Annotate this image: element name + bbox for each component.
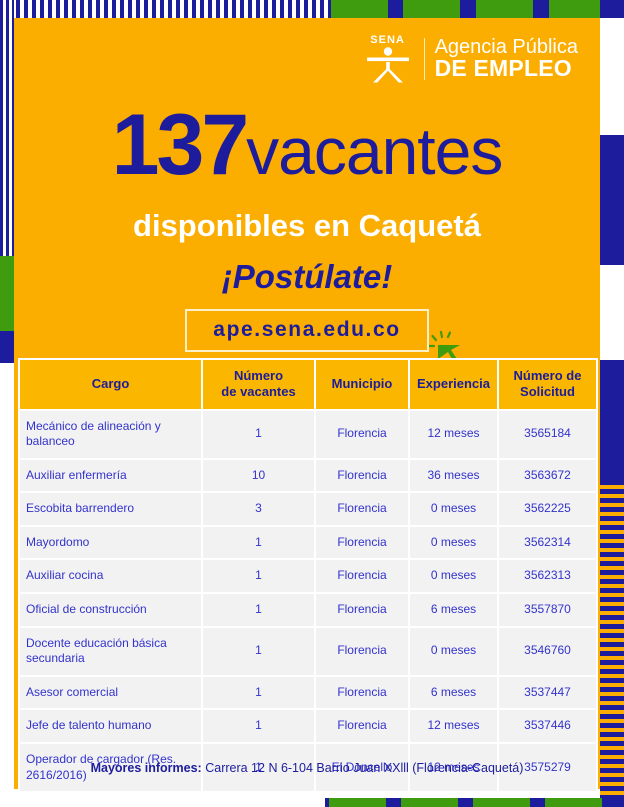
right-white-block-2: [600, 265, 624, 360]
cell-experiencia: 0 meses: [409, 526, 498, 560]
cell-municipio: Florencia: [315, 593, 409, 627]
cell-vacantes: 1: [202, 559, 315, 593]
cell-vacantes: 1: [202, 593, 315, 627]
vacancies-table-wrap: Cargo Númerode vacantes Municipio Experi…: [18, 358, 596, 793]
cell-experiencia: 0 meses: [409, 627, 498, 676]
table-row: Asesor comercial1Florencia6 meses3537447: [19, 676, 597, 710]
col-header-solicitud: Número deSolicitud: [498, 359, 597, 410]
cell-vacantes: 1: [202, 410, 315, 459]
col-header-vacantes-line1: Número: [234, 368, 283, 383]
table-header-row: Cargo Númerode vacantes Municipio Experi…: [19, 359, 597, 410]
cell-solicitud: 3563672: [498, 459, 597, 493]
logo-line-2: DE EMPLEO: [435, 57, 578, 80]
url-button[interactable]: ape.sena.edu.co: [185, 309, 428, 352]
vacancy-word: vacantes: [246, 114, 502, 188]
vacancies-table: Cargo Númerode vacantes Municipio Experi…: [18, 358, 598, 793]
cell-cargo: Mayordomo: [19, 526, 202, 560]
headline: 137vacantes: [14, 96, 600, 195]
cell-municipio: Florencia: [315, 526, 409, 560]
table-row: Escobita barrendero3Florencia0 meses3562…: [19, 492, 597, 526]
cell-municipio: Florencia: [315, 709, 409, 743]
col-header-cargo: Cargo: [19, 359, 202, 410]
logo-text: Agencia Pública DE EMPLEO: [435, 37, 578, 81]
footer-info: Mayores informes: Carrera 12 N 6-104 Bar…: [14, 761, 600, 775]
col-header-experiencia: Experiencia: [409, 359, 498, 410]
table-row: Mayordomo1Florencia0 meses3562314: [19, 526, 597, 560]
col-header-solicitud-line2: Solicitud: [520, 384, 575, 399]
col-header-vacantes: Númerode vacantes: [202, 359, 315, 410]
vacancy-count: 137: [112, 97, 247, 193]
cell-cargo: Mecánico de alineación y balanceo: [19, 410, 202, 459]
top-green-block-pattern: [331, 0, 624, 18]
url-label: ape.sena.edu.co: [213, 318, 400, 341]
cell-vacantes: 1: [202, 627, 315, 676]
right-blue-block-1: [600, 0, 624, 18]
cell-vacantes: 3: [202, 492, 315, 526]
col-header-vacantes-line2: de vacantes: [221, 384, 295, 399]
sena-logo: SENA Agencia Pública DE EMPLEO: [362, 35, 578, 83]
cell-experiencia: 0 meses: [409, 492, 498, 526]
cell-municipio: Florencia: [315, 410, 409, 459]
cell-experiencia: 36 meses: [409, 459, 498, 493]
col-header-solicitud-line1: Número de: [514, 368, 582, 383]
cell-solicitud: 3557870: [498, 593, 597, 627]
cell-cargo: Asesor comercial: [19, 676, 202, 710]
url-button-wrap: ape.sena.edu.co: [14, 309, 600, 352]
poster-panel: SENA Agencia Pública DE EMPLEO 137vacant…: [14, 18, 600, 789]
col-header-experiencia-label: Experiencia: [417, 376, 490, 391]
bottom-green-block-pattern: [325, 798, 624, 807]
cell-experiencia: 0 meses: [409, 559, 498, 593]
right-horizontal-stripe-pattern: [600, 480, 624, 807]
cell-cargo: Auxiliar cocina: [19, 559, 202, 593]
col-header-municipio-label: Municipio: [332, 376, 393, 391]
cell-vacantes: 1: [202, 676, 315, 710]
sena-mark: SENA: [362, 35, 414, 83]
logo-divider: [424, 38, 425, 80]
cell-solicitud: 3562314: [498, 526, 597, 560]
cell-experiencia: 6 meses: [409, 676, 498, 710]
cell-experiencia: 6 meses: [409, 593, 498, 627]
table-row: Jefe de talento humano1Florencia12 meses…: [19, 709, 597, 743]
sena-wordmark: SENA: [370, 35, 405, 46]
call-to-action: ¡Postúlate!: [14, 258, 600, 296]
cell-vacantes: 1: [202, 526, 315, 560]
cell-municipio: Florencia: [315, 492, 409, 526]
page-subtitle: disponibles en Caquetá: [14, 208, 600, 244]
cell-cargo: Escobita barrendero: [19, 492, 202, 526]
right-blue-block-2: [600, 135, 624, 265]
cell-solicitud: 3537446: [498, 709, 597, 743]
cell-solicitud: 3562313: [498, 559, 597, 593]
top-stripe-pattern: [0, 0, 331, 18]
footer-label: Mayores informes:: [91, 761, 202, 775]
cell-cargo: Oficial de construcción: [19, 593, 202, 627]
cell-municipio: Florencia: [315, 627, 409, 676]
vacancies-table-body: Mecánico de alineación y balanceo1Floren…: [19, 410, 597, 793]
cell-vacantes: 1: [202, 709, 315, 743]
table-row: Mecánico de alineación y balanceo1Floren…: [19, 410, 597, 459]
table-row: Auxiliar cocina1Florencia0 meses3562313: [19, 559, 597, 593]
cell-experiencia: 12 meses: [409, 709, 498, 743]
left-blue-block: [0, 331, 14, 363]
cell-solicitud: 3537447: [498, 676, 597, 710]
cell-cargo: Auxiliar enfermería: [19, 459, 202, 493]
right-blue-block-3: [600, 360, 624, 480]
table-row: Auxiliar enfermería10Florencia36 meses35…: [19, 459, 597, 493]
logo-line-1: Agencia Pública: [435, 37, 578, 57]
left-stripe-pattern: [0, 0, 14, 256]
cell-municipio: Florencia: [315, 676, 409, 710]
col-header-cargo-label: Cargo: [92, 376, 130, 391]
cell-cargo: Jefe de talento humano: [19, 709, 202, 743]
left-green-block: [0, 256, 14, 331]
col-header-municipio: Municipio: [315, 359, 409, 410]
right-white-block-1: [600, 18, 624, 135]
sena-person-icon: [365, 47, 411, 83]
cell-vacantes: 10: [202, 459, 315, 493]
cell-experiencia: 12 meses: [409, 410, 498, 459]
footer-address: Carrera 12 N 6-104 Barrio Juan XXlll (Fl…: [205, 761, 523, 775]
green-click-cursor-icon: [429, 328, 463, 362]
cell-cargo: Docente educación básica secundaria: [19, 627, 202, 676]
cell-municipio: Florencia: [315, 559, 409, 593]
table-row: Docente educación básica secundaria1Flor…: [19, 627, 597, 676]
cell-solicitud: 3565184: [498, 410, 597, 459]
cell-municipio: Florencia: [315, 459, 409, 493]
cell-solicitud: 3546760: [498, 627, 597, 676]
table-row: Oficial de construcción1Florencia6 meses…: [19, 593, 597, 627]
cell-solicitud: 3562225: [498, 492, 597, 526]
